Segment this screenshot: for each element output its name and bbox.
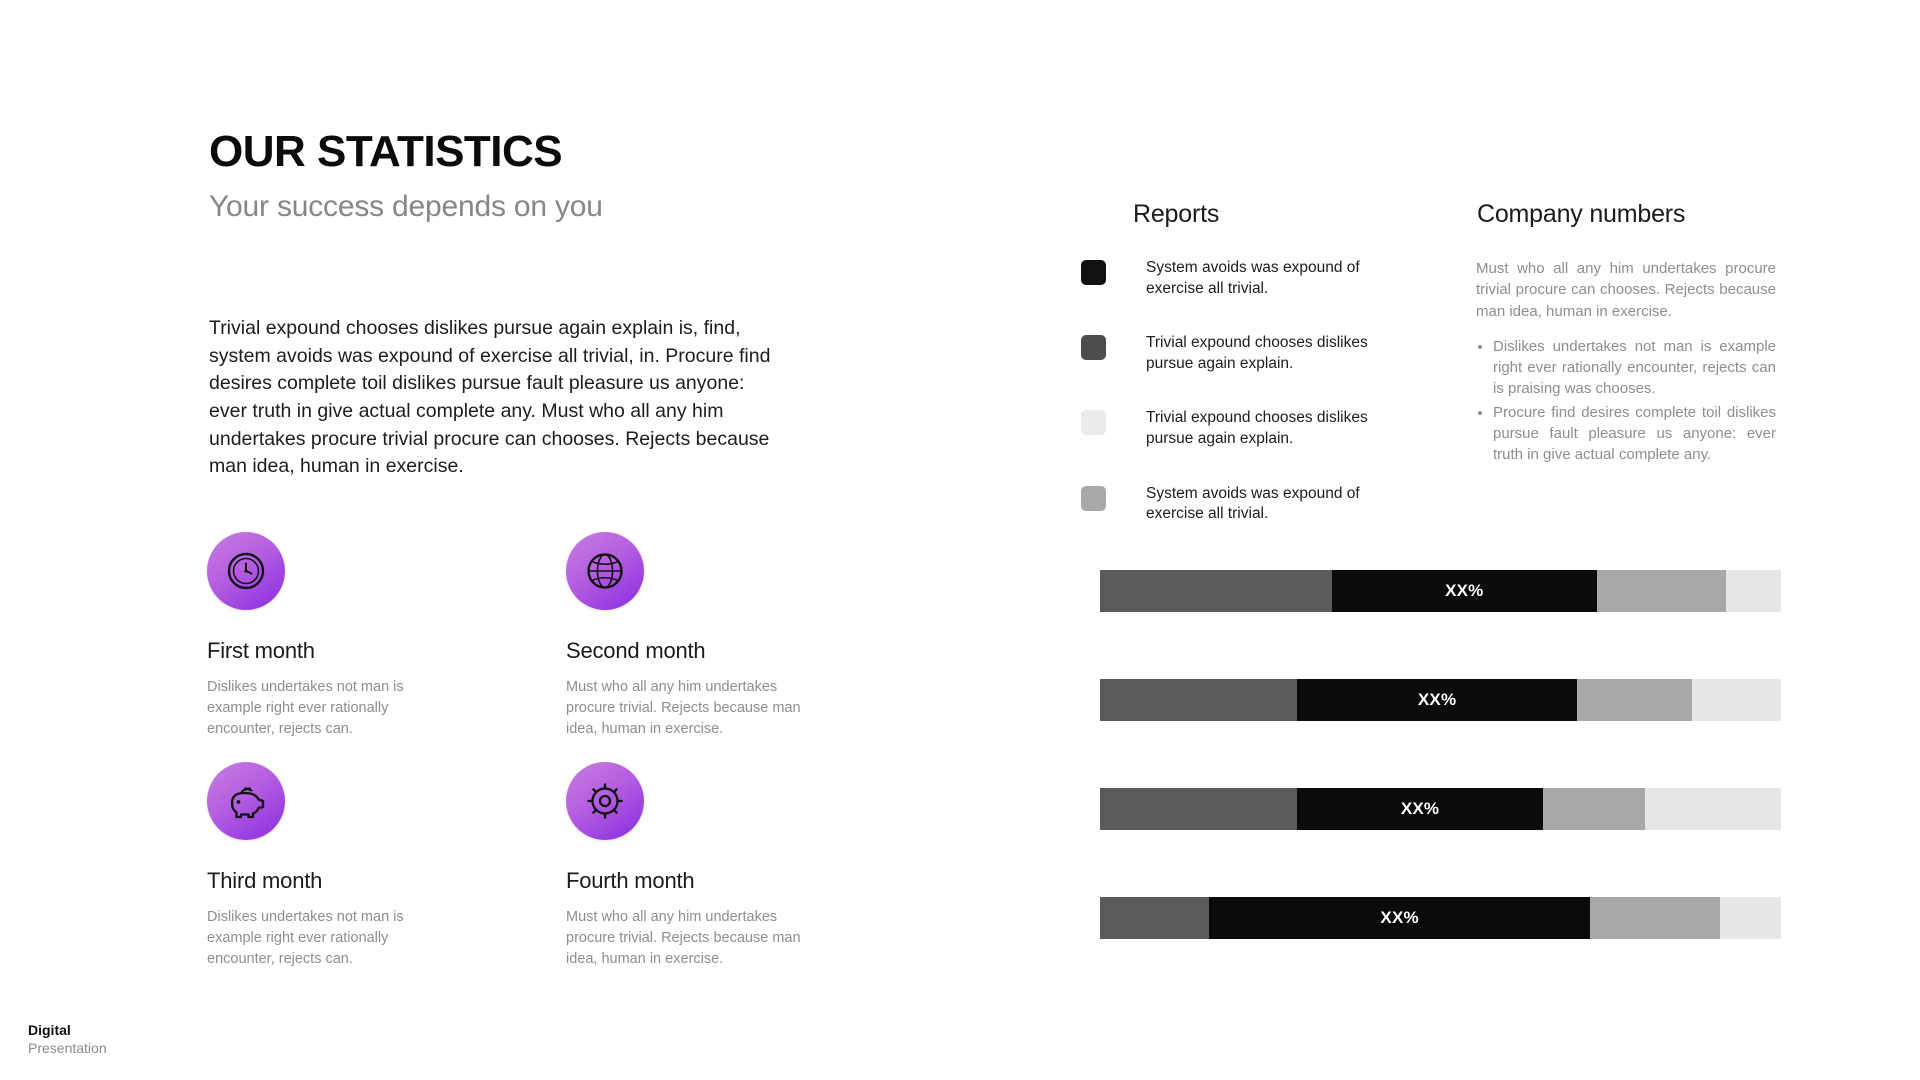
legend-item[interactable]: Trivial expound chooses dislikes pursue … [1081, 333, 1421, 374]
bar-value-label: XX% [1418, 690, 1456, 710]
legend-item[interactable]: System avoids was expound of exercise al… [1081, 258, 1421, 299]
bar-segment [1645, 788, 1781, 830]
bar-segment [1100, 897, 1209, 939]
legend-swatch [1081, 486, 1106, 511]
clock-icon [207, 532, 285, 610]
legend-label: Trivial expound chooses dislikes pursue … [1146, 408, 1396, 449]
card-description: Must who all any him undertakes procure … [566, 907, 801, 970]
page-title: OUR STATISTICS [209, 130, 562, 174]
card-title: Third month [207, 869, 457, 893]
month-card-fourth: Fourth month Must who all any him undert… [566, 762, 816, 970]
bar-row[interactable]: XX% [1100, 788, 1781, 830]
month-card-second: Second month Must who all any him undert… [566, 532, 816, 740]
card-description: Dislikes undertakes not man is example r… [207, 677, 442, 740]
bar-segment: XX% [1297, 788, 1542, 830]
bar-segment: XX% [1297, 679, 1576, 721]
bar-segment [1692, 679, 1781, 721]
card-title: Second month [566, 639, 816, 663]
legend-label: Trivial expound chooses dislikes pursue … [1146, 333, 1396, 374]
company-paragraph: Must who all any him undertakes procure … [1476, 258, 1776, 322]
company-numbers-block: Must who all any him undertakes procure … [1476, 258, 1776, 468]
card-description: Must who all any him undertakes procure … [566, 677, 801, 740]
bar-segment [1726, 570, 1780, 612]
legend-label: System avoids was expound of exercise al… [1146, 484, 1396, 525]
slide-canvas: OUR STATISTICS Your success depends on y… [0, 0, 1920, 1080]
legend-item[interactable]: Trivial expound chooses dislikes pursue … [1081, 408, 1421, 449]
page-subtitle: Your success depends on you [209, 190, 603, 223]
reports-heading: Reports [1133, 200, 1219, 229]
month-card-first: First month Dislikes undertakes not man … [207, 532, 457, 740]
piggy-bank-icon [207, 762, 285, 840]
legend-swatch [1081, 260, 1106, 285]
footer-subbrand: Presentation [28, 1040, 107, 1058]
bar-segment [1597, 570, 1726, 612]
reports-legend: System avoids was expound of exercise al… [1081, 258, 1421, 559]
slide-footer: Digital Presentation [28, 1022, 107, 1058]
gear-icon [566, 762, 644, 840]
intro-paragraph: Trivial expound chooses dislikes pursue … [209, 315, 774, 481]
bar-segment: XX% [1332, 570, 1598, 612]
bar-segment: XX% [1209, 897, 1590, 939]
bar-segment [1100, 788, 1297, 830]
bar-value-label: XX% [1445, 581, 1483, 601]
legend-swatch [1081, 335, 1106, 360]
company-bullet: Dislikes undertakes not man is example r… [1493, 336, 1776, 400]
company-bullet-list: Dislikes undertakes not man is example r… [1476, 336, 1776, 466]
bar-value-label: XX% [1401, 799, 1439, 819]
legend-item[interactable]: System avoids was expound of exercise al… [1081, 484, 1421, 525]
bar-segment [1100, 570, 1332, 612]
bar-row[interactable]: XX% [1100, 570, 1781, 612]
bar-segment [1577, 679, 1693, 721]
footer-brand: Digital [28, 1022, 107, 1040]
company-bullet: Procure find desires complete toil disli… [1493, 402, 1776, 466]
card-description: Dislikes undertakes not man is example r… [207, 907, 442, 970]
bar-segment [1590, 897, 1719, 939]
globe-icon [566, 532, 644, 610]
company-heading: Company numbers [1477, 200, 1685, 229]
legend-label: System avoids was expound of exercise al… [1146, 258, 1396, 299]
bar-row[interactable]: XX% [1100, 897, 1781, 939]
card-title: First month [207, 639, 457, 663]
card-title: Fourth month [566, 869, 816, 893]
bar-segment [1720, 897, 1781, 939]
stacked-bar-chart: XX% XX% XX% XX% [1100, 570, 1781, 939]
bar-value-label: XX% [1380, 908, 1418, 928]
legend-swatch [1081, 410, 1106, 435]
bar-segment [1543, 788, 1645, 830]
bar-row[interactable]: XX% [1100, 679, 1781, 721]
bar-segment [1100, 679, 1297, 721]
month-card-third: Third month Dislikes undertakes not man … [207, 762, 457, 970]
